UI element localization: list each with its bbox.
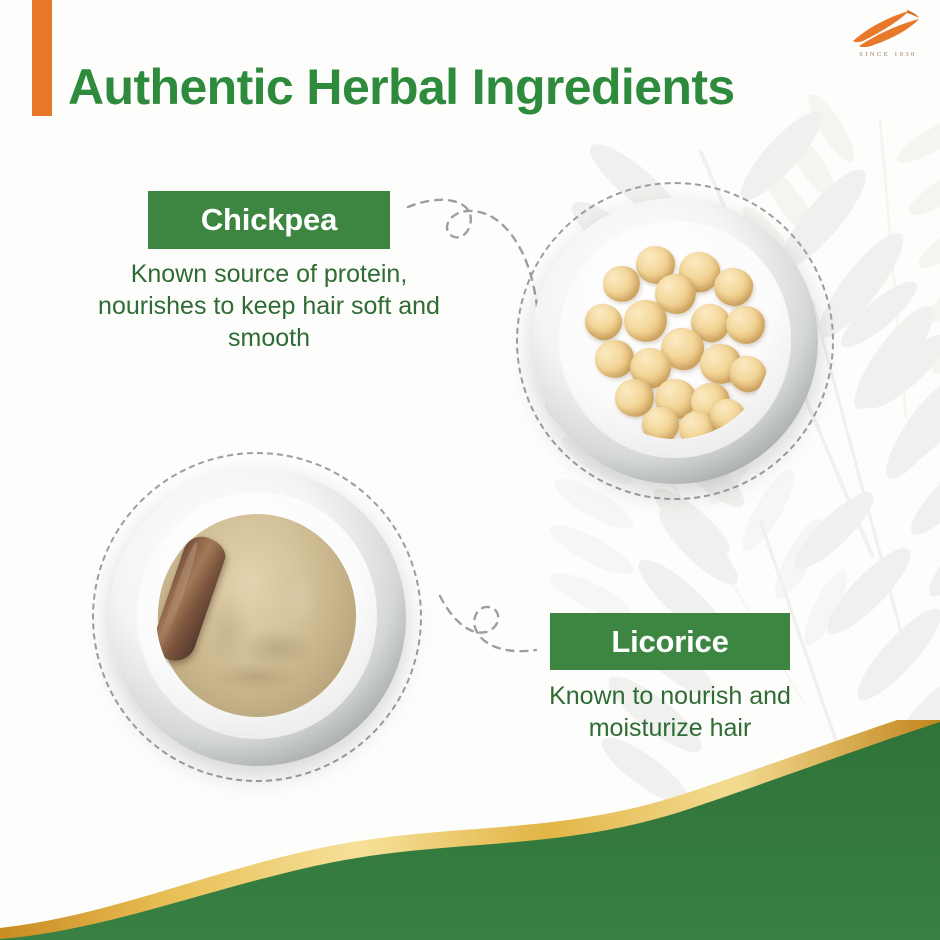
chickpea-bowl-outer	[532, 198, 818, 484]
ingredients-poster: Authentic Herbal Ingredients SINCE 1930	[0, 0, 940, 940]
chickpea-bowl-cavity	[578, 240, 773, 440]
licorice-bowl-cavity	[156, 512, 358, 719]
ingredient-badge-chickpea: Chickpea	[148, 191, 390, 249]
logo-since-label: SINCE 1930	[844, 51, 932, 58]
orange-accent-bar	[32, 0, 52, 116]
flame-leaf-icon	[851, 8, 925, 48]
brand-logo: SINCE 1930	[844, 8, 932, 74]
bottom-wave-decoration	[0, 720, 940, 940]
licorice-bowl-inner	[137, 492, 378, 739]
page-title: Authentic Herbal Ingredients	[68, 58, 735, 116]
ingredient-badge-licorice: Licorice	[550, 613, 790, 670]
chickpea-bowl-image	[516, 182, 834, 500]
ingredient-description-chickpea: Known source of protein, nourishes to ke…	[88, 258, 450, 354]
chickpea-bowl-inner	[559, 221, 791, 459]
